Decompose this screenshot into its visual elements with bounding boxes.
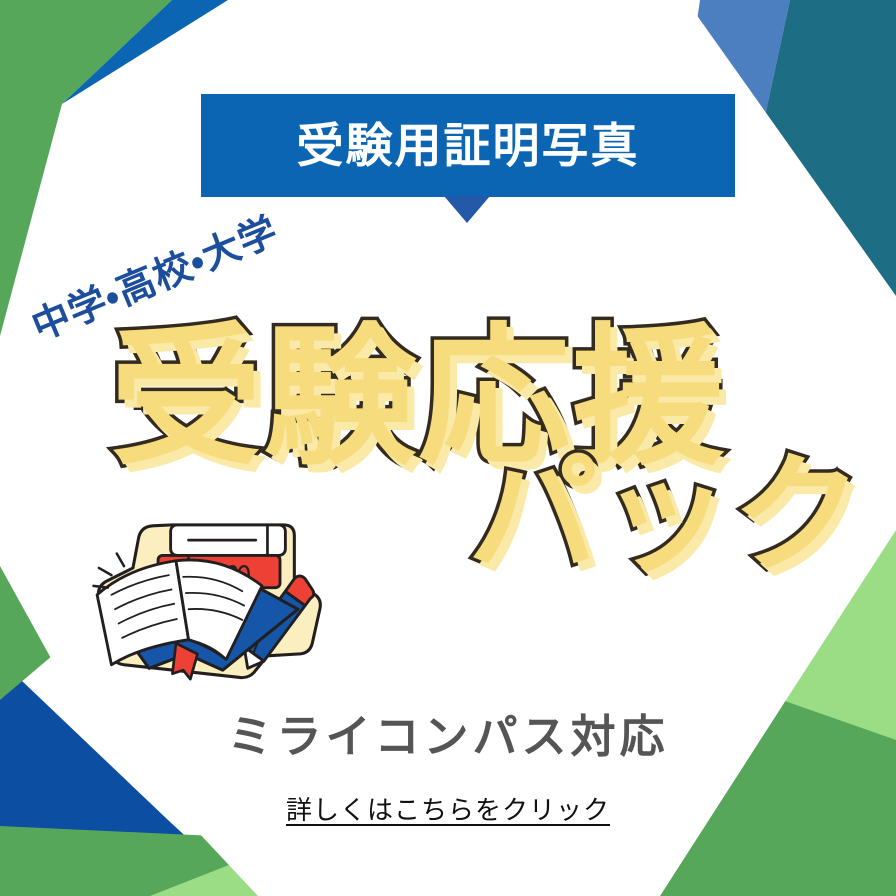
header-banner-tail-icon bbox=[444, 196, 490, 223]
cta-link[interactable]: 詳しくはこちらをクリック bbox=[0, 790, 896, 827]
poster-canvas: 受験用証明写真 中学・高校・大学 受験応援 パック bbox=[0, 0, 896, 896]
header-banner-label: 受験用証明写真 bbox=[297, 122, 640, 169]
header-banner: 受験用証明写真 bbox=[201, 94, 735, 197]
open-book-and-pencil-icon bbox=[72, 512, 332, 692]
subtitle-text: ミライコンパス対応 bbox=[0, 700, 896, 765]
